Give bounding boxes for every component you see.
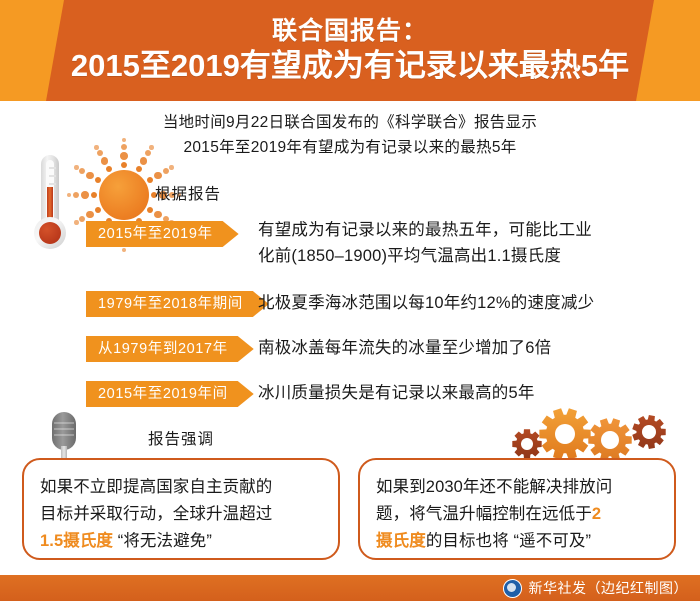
quote-highlight: 1.5摄氏度 [40,532,113,550]
sun-ray-dot [154,172,162,180]
thermometer-icon [29,155,71,260]
sun-ray-dot [120,152,128,160]
quote-text-line: 题，将气温升幅控制在远低于2 [376,501,664,528]
thermometer-tick [49,175,56,177]
sun-ray-dot [95,207,101,213]
sun-core [99,170,149,220]
section-label-basis: 根据报告 [155,182,221,204]
sun-ray-dot [74,165,78,169]
sun-ray-dot [94,145,98,149]
quote-text-line: 目标并采取行动，全球升温超过 [40,501,328,528]
quote-run: “将无法避免” [113,532,212,550]
intro-line-1: 当地时间9月22日联合国发布的《科学联合》报告显示 [0,110,700,135]
gear-hub [601,431,619,449]
sun-ray-dot [147,177,153,183]
quote-text-line: 摄氏度的目标也将 “遥不可及” [376,528,664,555]
quote-text: 如果不立即提高国家自主贡献的目标并采取行动，全球升温超过1.5摄氏度 “将无法避… [40,474,328,555]
gear-hub [642,425,656,439]
sun-ray-dot [163,168,169,174]
quote-text: 如果到2030年还不能解决排放问题，将气温升幅控制在远低于2摄氏度的目标也将 “… [376,474,664,555]
microphone-grill-line [54,434,74,436]
quote-run: 目标并采取行动，全球升温超过 [40,505,272,523]
sun-ray-dot [79,216,85,222]
sun-ray-dot [81,191,89,199]
quote-box-right: 如果到2030年还不能解决排放问题，将气温升幅控制在远低于2摄氏度的目标也将 “… [358,458,676,560]
quote-text-line: 如果不立即提高国家自主贡献的 [40,474,328,501]
row-text-line: 有望成为有记录以来的最热五年，可能比工业 [258,217,686,243]
gear-hub [521,438,533,450]
thermometer-tick [49,183,56,185]
sun-ray-dot [73,192,79,198]
sun-ray-dot [169,165,173,169]
row-tag-period: 从1979年到2017年 [86,336,254,362]
sun-ray-dot [121,144,127,150]
row-tag-period: 1979年至2018年期间 [86,291,269,317]
sun-ray-dot [122,248,126,252]
footer-credit: 新华社发（边纪红制图） [529,578,689,598]
row-text: 有望成为有记录以来的最热五年，可能比工业 化前(1850–1900)平均气温高出… [258,217,686,269]
thermometer-bulb-fill [39,222,61,244]
xinhua-logo-icon [503,579,522,598]
sun-ray-dot [147,207,153,213]
sun-ray-dot [95,177,101,183]
sun-ray-dot [79,168,85,174]
row-text-line: 南极冰盖每年流失的冰量至少增加了6倍 [258,335,686,361]
sun-ray-dot [97,150,103,156]
sun-ray-dot [145,150,151,156]
sun-ray-dot [136,166,142,172]
thermometer-tick [49,167,56,169]
gear-hub [555,424,575,444]
section-label-emphasis: 报告强调 [148,427,214,449]
quote-highlight: 摄氏度 [376,532,426,550]
sun-ray-dot [154,211,162,219]
row-text: 南极冰盖每年流失的冰量至少增加了6倍 [258,335,686,361]
row-tag-period: 2015年至2019年 [86,221,239,247]
row-text-line: 北极夏季海冰范围以每10年约12%的速度减少 [258,290,686,316]
footer-bar: 新华社发（边纪红制图） [0,575,700,601]
quote-box-left: 如果不立即提高国家自主贡献的目标并采取行动，全球升温超过1.5摄氏度 “将无法避… [22,458,340,560]
quote-run: 题，将气温升幅控制在远低于 [376,505,592,523]
sun-ray-dot [101,157,109,165]
page-title-line2: 2015至2019有望成为有记录以来最热5年 [71,47,629,85]
sun-ray-dot [86,172,94,180]
header-banner: 联合国报告： 2015至2019有望成为有记录以来最热5年 [0,0,700,101]
quote-text-line: 1.5摄氏度 “将无法避免” [40,528,328,555]
microphone-grill-line [54,428,74,430]
sun-ray-dot [74,220,78,224]
microphone-head [52,412,76,450]
quote-text-line: 如果到2030年还不能解决排放问 [376,474,664,501]
quote-run: 如果不立即提高国家自主贡献的 [40,478,272,496]
gears-icon [505,404,673,462]
sun-ray-dot [106,166,112,172]
microphone-grill-line [54,422,74,424]
quote-run: 如果到2030年还不能解决排放问 [376,478,612,496]
row-tag-period: 2015年至2019年间 [86,381,254,407]
quote-run: 的目标也将 “遥不可及” [426,532,591,550]
sun-ray-dot [91,192,97,198]
header-title-group: 联合国报告： 2015至2019有望成为有记录以来最热5年 [0,0,700,101]
sun-ray-dot [121,162,127,168]
row-text: 冰川质量损失是有记录以来最高的5年 [258,380,686,406]
sun-ray-dot [140,157,148,165]
quote-highlight: 2 [592,505,601,523]
page-title-line1: 联合国报告： [272,16,428,46]
row-text-line: 冰川质量损失是有记录以来最高的5年 [258,380,686,406]
gears-svg [505,404,673,462]
sun-ray-dot [122,138,126,142]
row-text: 北极夏季海冰范围以每10年约12%的速度减少 [258,290,686,316]
sun-ray-dot [149,145,153,149]
sun-ray-dot [86,211,94,219]
row-text-line: 化前(1850–1900)平均气温高出1.1摄氏度 [258,243,686,269]
